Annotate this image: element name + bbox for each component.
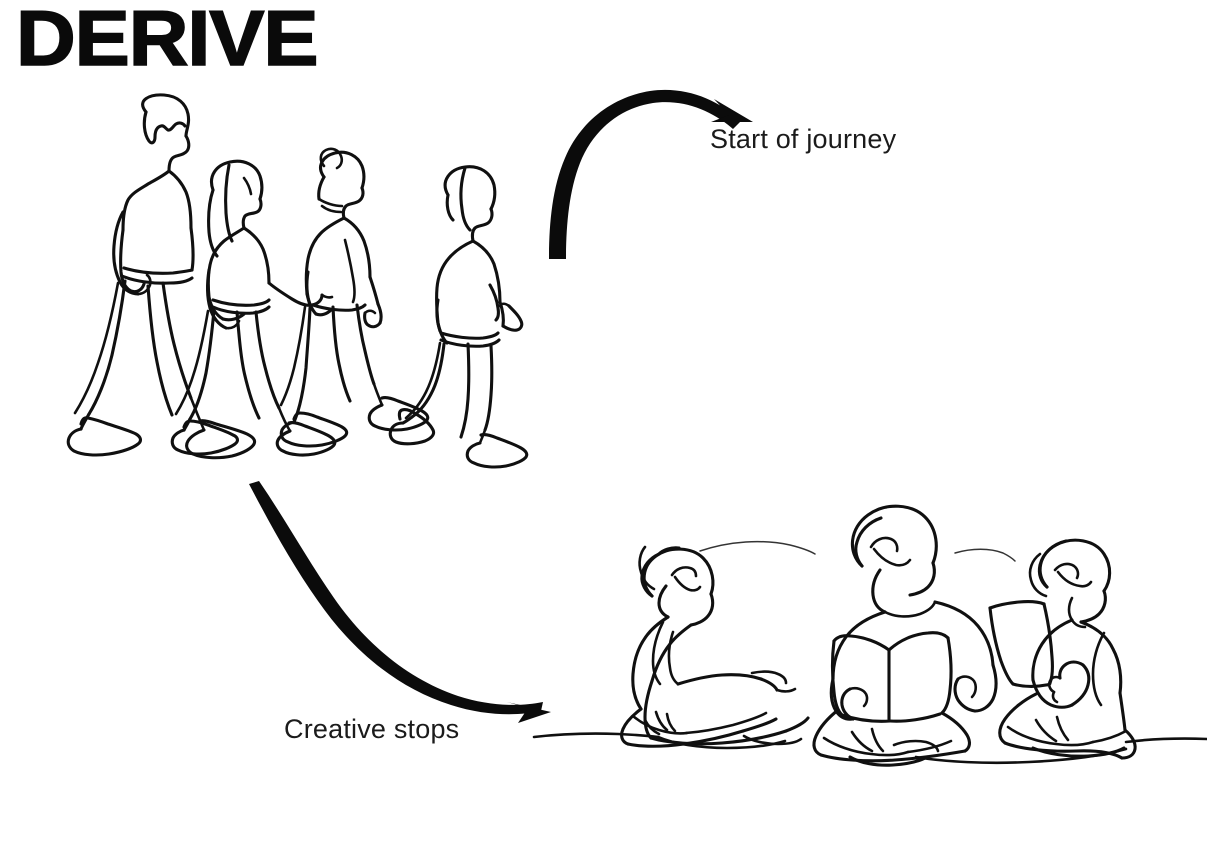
walker-figure-4 [390,167,527,467]
label-creative-stops: Creative stops [284,714,459,745]
seated-figure-right [990,540,1135,758]
arrow-to-start-of-journey [549,90,753,259]
seated-figure-center [814,506,996,765]
seated-figure-left [622,547,808,746]
walker-figure-1 [68,95,254,458]
walking-group [68,95,527,467]
label-start-of-journey: Start of journey [710,124,896,155]
arrow-to-creative-stops [249,481,551,723]
walker-figure-3 [281,149,428,446]
poster-canvas: DERIVE [0,0,1207,842]
seated-group [622,506,1136,765]
illustration-layer [0,0,1207,842]
